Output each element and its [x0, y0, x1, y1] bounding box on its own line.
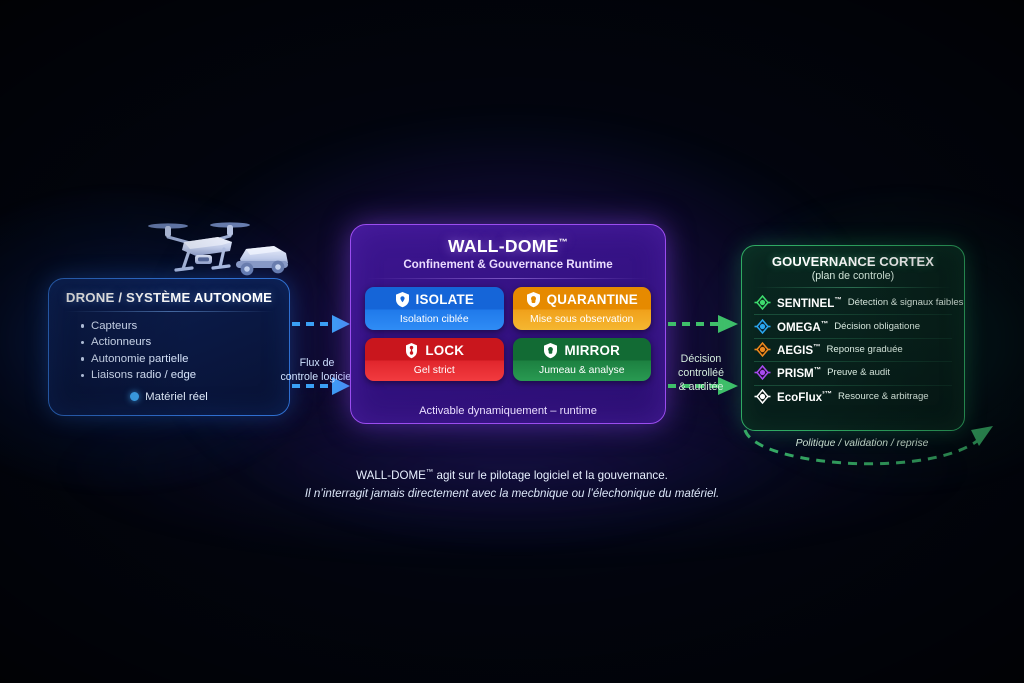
vignette-overlay [0, 0, 1024, 683]
diagram-canvas: DRONE / SYSTÈME AUTONOME Capteurs Action… [0, 0, 1024, 683]
